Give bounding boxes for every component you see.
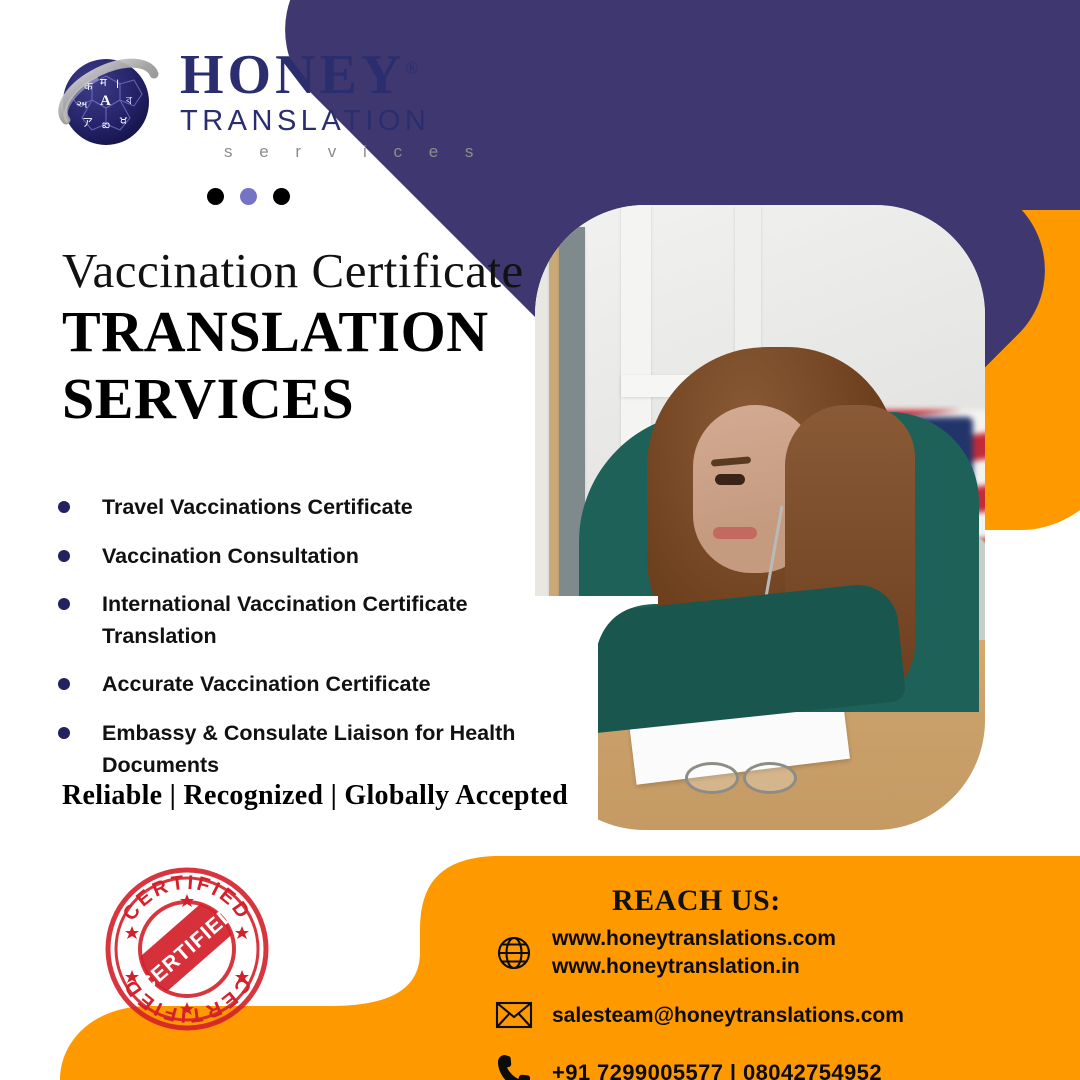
certified-stamp-badge: CERTIFIED CERTIFIED CERTIFIED (104, 866, 270, 1032)
services-list: Travel Vaccinations Certificate Vaccinat… (58, 492, 538, 798)
phone-icon (492, 1050, 536, 1080)
svg-text:ఐ: ఐ (102, 119, 110, 131)
bullet-dot-icon (58, 678, 70, 690)
list-item: Embassy & Consulate Liaison for Health D… (58, 718, 538, 781)
purple-top-shape (560, 0, 1080, 210)
svg-text:ব: ব (125, 95, 133, 107)
website-line-2[interactable]: www.honeytranslation.in (552, 955, 800, 978)
svg-text:म: म (100, 77, 107, 89)
contact-row-phone: +91 7299005577 | 08042754952 (492, 1050, 1052, 1080)
page-title: Vaccination Certificate TRANSLATION SERV… (62, 244, 532, 432)
list-item-label: Accurate Vaccination Certificate (102, 669, 431, 701)
list-item-label: International Vaccination Certificate Tr… (102, 589, 538, 652)
list-item: International Vaccination Certificate Tr… (58, 589, 538, 652)
list-item: Accurate Vaccination Certificate (58, 669, 538, 701)
website-line-1[interactable]: www.honeytranslations.com (552, 927, 836, 950)
footer-heading: REACH US: (612, 884, 781, 918)
decorative-dots (207, 188, 290, 205)
dot-1 (207, 188, 224, 205)
headline-bold-2: SERVICES (62, 366, 532, 433)
contact-list: www.honeytranslations.com www.honeytrans… (492, 925, 1052, 1080)
svg-text:A: A (100, 93, 111, 109)
list-item: Travel Vaccinations Certificate (58, 492, 538, 524)
logo-brand-text: HONEY® (180, 48, 484, 103)
svg-text:ਖ: ਖ (119, 115, 128, 127)
contact-phone-value[interactable]: +91 7299005577 | 08042754952 (552, 1058, 882, 1080)
promo-poster: A कम اઅ বア ఐਖ HONEY® TRANSLATION s e r v… (0, 0, 1080, 1080)
tagline: Reliable | Recognized | Globally Accepte… (62, 780, 568, 812)
globe-icon (492, 931, 536, 975)
headline-bold-1: TRANSLATION (62, 299, 532, 366)
globe-languages-icon: A कम اઅ বア ఐਖ (52, 48, 164, 160)
bullet-dot-icon (58, 550, 70, 562)
contact-email-value[interactable]: salesteam@honeytranslations.com (552, 1002, 904, 1030)
contact-row-email: salesteam@honeytranslations.com (492, 993, 1052, 1037)
registered-mark: ® (405, 58, 422, 77)
brand-logo: A कम اઅ বア ఐਖ HONEY® TRANSLATION s e r v… (52, 44, 484, 165)
headline-script: Vaccination Certificate (62, 244, 532, 299)
list-item-label: Travel Vaccinations Certificate (102, 492, 413, 524)
dot-2 (240, 188, 257, 205)
contact-website-values[interactable]: www.honeytranslations.com www.honeytrans… (552, 925, 836, 980)
list-item: Vaccination Consultation (58, 541, 538, 573)
bullet-dot-icon (58, 501, 70, 513)
bullet-dot-icon (58, 598, 70, 610)
logo-line-services: s e r v i c e s (180, 139, 484, 165)
bullet-dot-icon (58, 727, 70, 739)
list-item-label: Embassy & Consulate Liaison for Health D… (102, 718, 538, 781)
svg-text:અ: અ (76, 99, 88, 111)
svg-text:ا: ا (116, 79, 119, 91)
dot-3 (273, 188, 290, 205)
contact-row-website: www.honeytranslations.com www.honeytrans… (492, 925, 1052, 980)
logo-line-translation: TRANSLATION (180, 103, 484, 139)
list-item-label: Vaccination Consultation (102, 541, 359, 573)
envelope-icon (492, 993, 536, 1037)
svg-text:ア: ア (82, 117, 93, 129)
